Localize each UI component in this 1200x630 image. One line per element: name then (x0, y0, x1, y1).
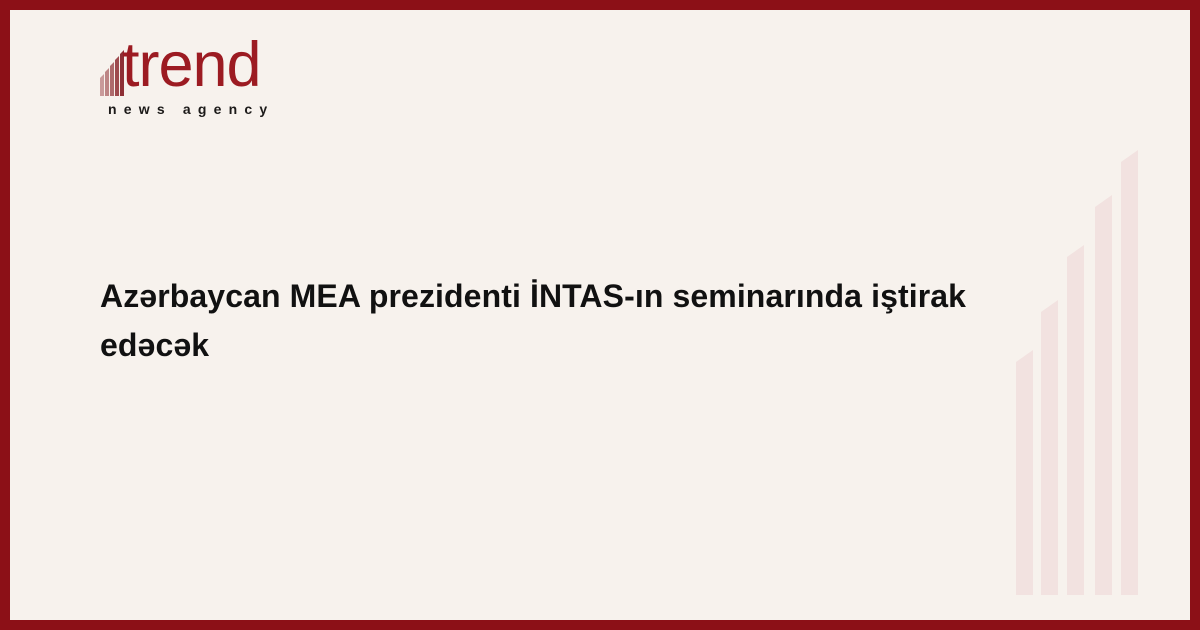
watermark-bar (1041, 300, 1058, 595)
watermark-bar (1016, 350, 1033, 595)
logo-tagline: news agency (108, 102, 274, 116)
watermark-bar (1067, 245, 1084, 595)
ascending-bars-watermark (1010, 165, 1150, 595)
logo-bar (115, 56, 119, 96)
watermark-bar (1121, 150, 1138, 595)
social-share-card: trend news agency Azərbaycan MEA prezide… (0, 0, 1200, 630)
logo-bar (110, 62, 114, 96)
trend-news-agency-logo[interactable]: trend news agency (100, 40, 360, 140)
card-canvas: trend news agency Azərbaycan MEA prezide… (10, 10, 1190, 620)
logo-wordmark: trend (122, 34, 261, 97)
logo-bar (105, 68, 109, 96)
headline-text: Azərbaycan MEA prezidenti İNTAS-ın semin… (100, 272, 1010, 369)
logo-bar (100, 74, 104, 96)
watermark-bar (1095, 195, 1112, 595)
